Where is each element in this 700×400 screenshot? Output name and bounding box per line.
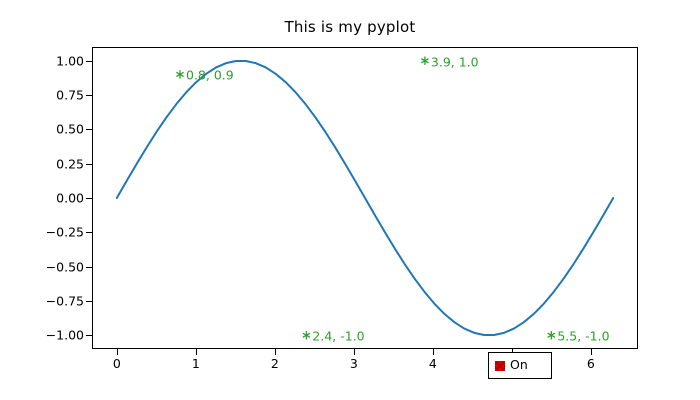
matplotlib-figure: This is my pyplot 1.000.750.500.250.00−0… [0,0,700,400]
point-annotation: 5.5, -1.0 [557,329,609,344]
point-annotation: 2.4, -1.0 [312,329,364,344]
checkbox-label: On [510,359,528,372]
checkbox-checked-icon[interactable] [495,361,505,371]
point-annotation: 0.8, 0.9 [186,68,234,83]
point-annotation: 3.9, 1.0 [431,54,479,69]
check-buttons-widget[interactable]: On [488,352,552,379]
annotation-layer: 0.8, 0.93.9, 1.02.4, -1.05.5, -1.0 [0,0,700,400]
